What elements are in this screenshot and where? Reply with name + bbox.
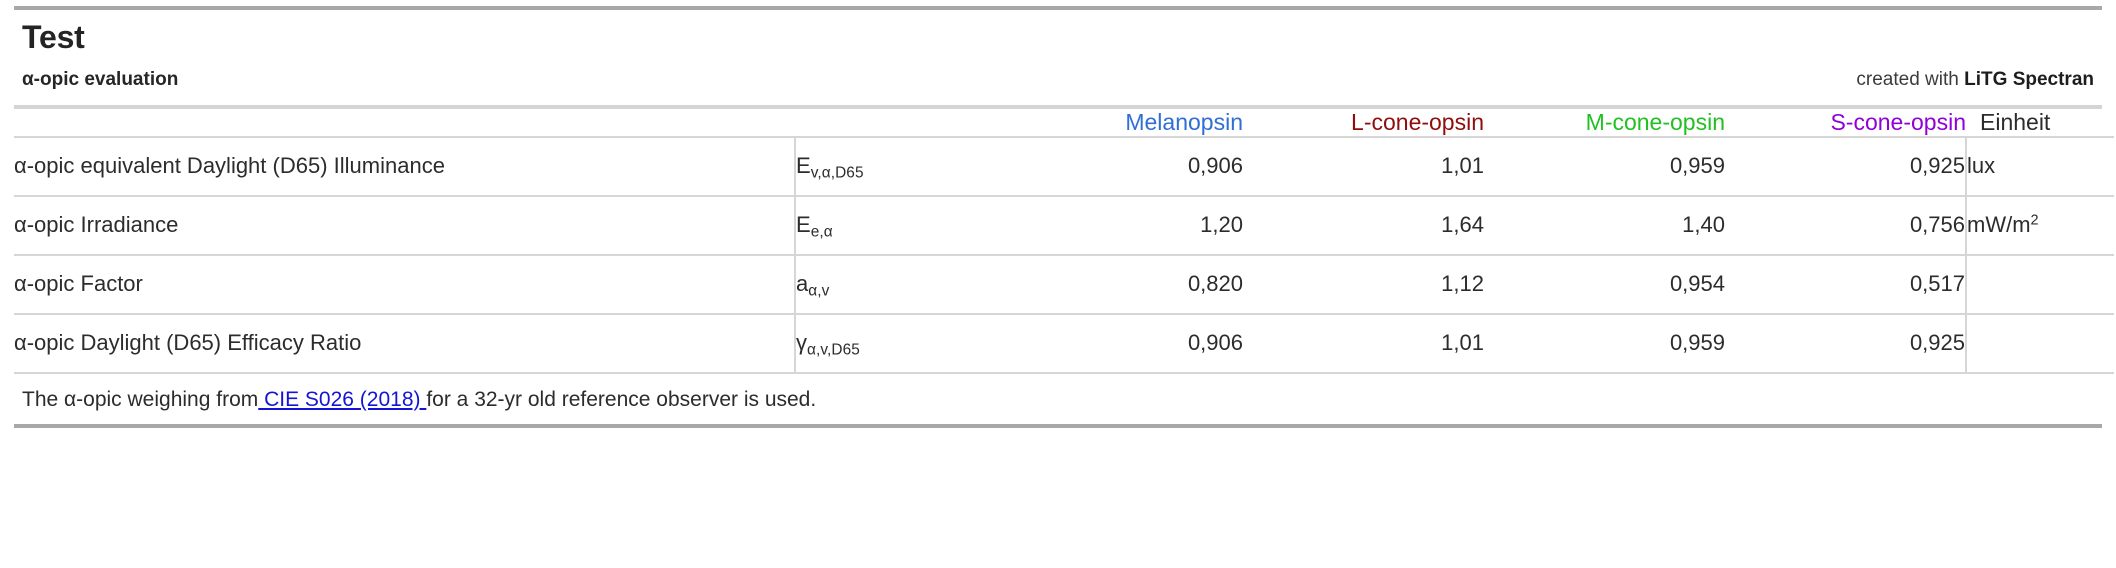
cell-s-cone-opsin: 0,756 <box>1725 196 1966 255</box>
column-header-symbol <box>795 109 1002 137</box>
page-title: Test <box>22 20 2094 56</box>
cell-melanopsin: 1,20 <box>1002 196 1243 255</box>
cell-m-cone-opsin: 0,959 <box>1484 137 1725 196</box>
cell-melanopsin: 0,906 <box>1002 314 1243 373</box>
report-header: Test α-opic evaluation created with LiTG… <box>0 10 2116 105</box>
unit-base: mW/m <box>1967 212 2031 237</box>
unit-exponent: 2 <box>2031 213 2039 229</box>
cell-unit <box>1966 314 2114 373</box>
cell-s-cone-opsin: 0,517 <box>1725 255 1966 314</box>
row-label: α-opic Factor <box>14 255 795 314</box>
row-symbol: γα,v,D65 <box>795 314 1002 373</box>
cell-melanopsin: 0,820 <box>1002 255 1243 314</box>
created-with-credit: created with LiTG Spectran <box>1856 70 2094 91</box>
symbol-subscript: α,v,D65 <box>807 342 860 359</box>
cell-m-cone-opsin: 0,954 <box>1484 255 1725 314</box>
cell-s-cone-opsin: 0,925 <box>1725 314 1966 373</box>
table-row: α-opic equivalent Daylight (D65) Illumin… <box>14 137 2114 196</box>
table-head: Melanopsin L-cone-opsin M-cone-opsin S-c… <box>14 109 2114 137</box>
symbol-base: γ <box>796 330 807 355</box>
table-body: α-opic equivalent Daylight (D65) Illumin… <box>14 137 2114 373</box>
table-row: α-opic Factor aα,v 0,820 1,12 0,954 0,51… <box>14 255 2114 314</box>
column-header-label <box>14 109 795 137</box>
credit-brand: LiTG Spectran <box>1964 69 2094 90</box>
row-symbol: Ev,α,D65 <box>795 137 1002 196</box>
report-subtitle: α-opic evaluation <box>22 70 178 91</box>
alpha-opic-table-wrap: Melanopsin L-cone-opsin M-cone-opsin S-c… <box>0 109 2116 374</box>
table-row: α-opic Daylight (D65) Efficacy Ratio γα,… <box>14 314 2114 373</box>
column-header-l-cone-opsin: L-cone-opsin <box>1243 109 1484 137</box>
column-header-melanopsin: Melanopsin <box>1002 109 1243 137</box>
cell-l-cone-opsin: 1,01 <box>1243 314 1484 373</box>
cell-unit: mW/m2 <box>1966 196 2114 255</box>
symbol-subscript: v,α,D65 <box>811 165 864 182</box>
column-header-einheit: Einheit <box>1966 109 2114 137</box>
row-symbol: Ee,α <box>795 196 1002 255</box>
table-row: α-opic Irradiance Ee,α 1,20 1,64 1,40 0,… <box>14 196 2114 255</box>
cell-l-cone-opsin: 1,12 <box>1243 255 1484 314</box>
unit-base: lux <box>1967 153 1995 178</box>
row-label: α-opic equivalent Daylight (D65) Illumin… <box>14 137 795 196</box>
column-header-m-cone-opsin: M-cone-opsin <box>1484 109 1725 137</box>
cell-unit <box>1966 255 2114 314</box>
row-label: α-opic Irradiance <box>14 196 795 255</box>
cell-unit: lux <box>1966 137 2114 196</box>
cie-s026-link[interactable]: CIE S026 (2018) <box>258 388 426 411</box>
symbol-subscript: α,v <box>808 283 829 300</box>
cell-l-cone-opsin: 1,64 <box>1243 196 1484 255</box>
cell-m-cone-opsin: 0,959 <box>1484 314 1725 373</box>
symbol-base: a <box>796 271 808 296</box>
credit-prefix: created with <box>1856 69 1964 90</box>
footnote-before: The α-opic weighing from <box>22 388 258 411</box>
bottom-rule <box>14 424 2102 428</box>
column-header-s-cone-opsin: S-cone-opsin <box>1725 109 1966 137</box>
symbol-subscript: e,α <box>811 224 833 241</box>
footnote: The α-opic weighing from CIE S026 (2018)… <box>0 374 2116 424</box>
symbol-base: E <box>796 153 811 178</box>
cell-l-cone-opsin: 1,01 <box>1243 137 1484 196</box>
subtitle-row: α-opic evaluation created with LiTG Spec… <box>22 70 2094 91</box>
footnote-after: for a 32-yr old reference observer is us… <box>426 388 816 411</box>
symbol-base: E <box>796 212 811 237</box>
row-label: α-opic Daylight (D65) Efficacy Ratio <box>14 314 795 373</box>
table-header-row: Melanopsin L-cone-opsin M-cone-opsin S-c… <box>14 109 2114 137</box>
cell-m-cone-opsin: 1,40 <box>1484 196 1725 255</box>
alpha-opic-report: Test α-opic evaluation created with LiTG… <box>0 0 2116 568</box>
alpha-opic-table: Melanopsin L-cone-opsin M-cone-opsin S-c… <box>14 109 2114 374</box>
cell-melanopsin: 0,906 <box>1002 137 1243 196</box>
cell-s-cone-opsin: 0,925 <box>1725 137 1966 196</box>
row-symbol: aα,v <box>795 255 1002 314</box>
